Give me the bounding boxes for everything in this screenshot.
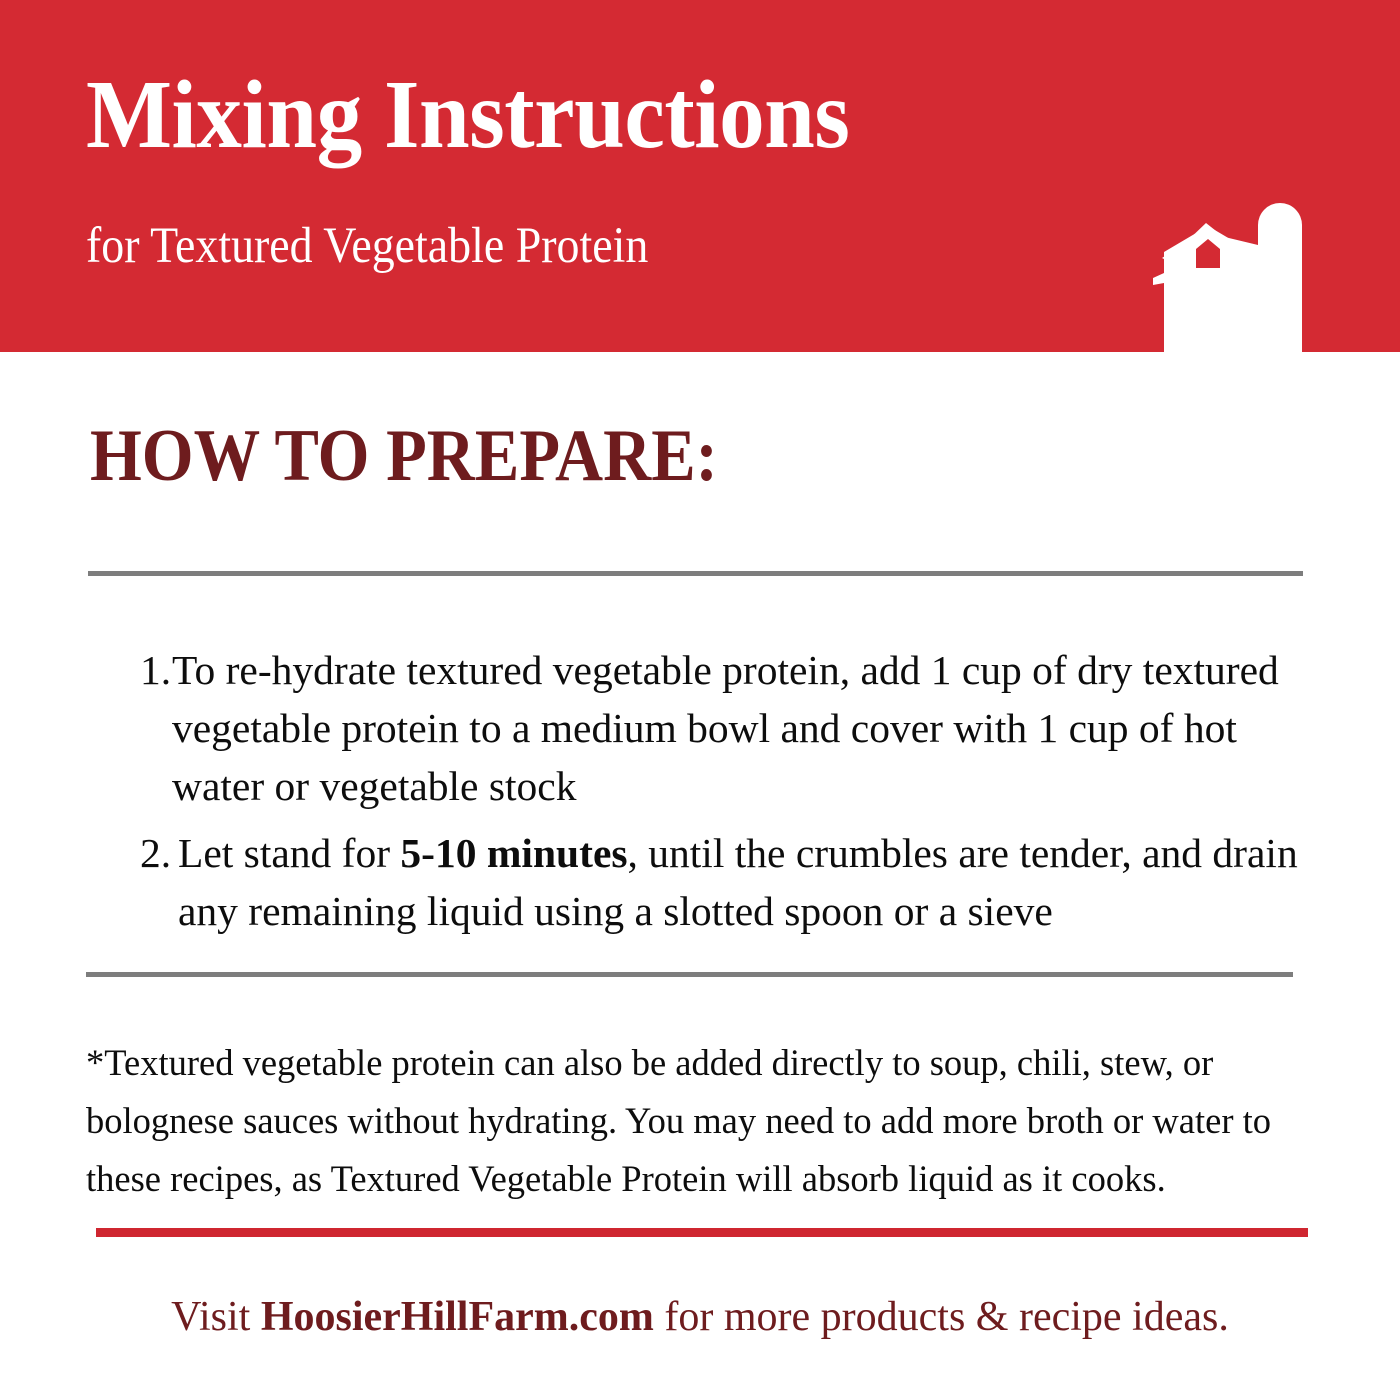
page-subtitle: for Textured Vegetable Protein	[86, 218, 648, 274]
list-item-number: 1.	[140, 641, 172, 699]
instruction-card: Mixing Instructions for Textured Vegetab…	[0, 0, 1400, 1400]
footer-text-before: Visit	[171, 1294, 261, 1340]
preparation-steps-list: 1. To re-hydrate textured vegetable prot…	[140, 641, 1300, 940]
list-item-number: 2.	[140, 824, 178, 882]
list-item-text: To re-hydrate textured vegetable protein…	[172, 641, 1300, 815]
footnote-text: *Textured vegetable protein can also be …	[86, 1034, 1311, 1208]
divider-bottom	[86, 972, 1293, 977]
page-title: Mixing Instructions	[86, 66, 849, 164]
list-item: 1. To re-hydrate textured vegetable prot…	[140, 641, 1300, 815]
footer-website-link[interactable]: HoosierHillFarm.com	[261, 1294, 654, 1340]
list-item-text-part: To re-hydrate textured vegetable protein…	[172, 647, 1279, 809]
divider-top	[88, 571, 1303, 576]
list-item-text-bold: 5-10 minutes	[400, 830, 627, 876]
list-item-text-part: Let stand for	[178, 830, 400, 876]
card-header: Mixing Instructions for Textured Vegetab…	[0, 0, 1400, 352]
footer: Visit HoosierHillFarm.com for more produ…	[0, 1293, 1400, 1341]
section-heading: HOW TO PREPARE:	[90, 419, 718, 493]
footer-text-after: for more products & recipe ideas.	[654, 1294, 1229, 1340]
list-item: 2. Let stand for 5-10 minutes, until the…	[140, 824, 1300, 940]
list-item-text: Let stand for 5-10 minutes, until the cr…	[178, 824, 1300, 940]
barn-silo-icon	[1150, 190, 1400, 352]
divider-footer	[96, 1228, 1308, 1237]
